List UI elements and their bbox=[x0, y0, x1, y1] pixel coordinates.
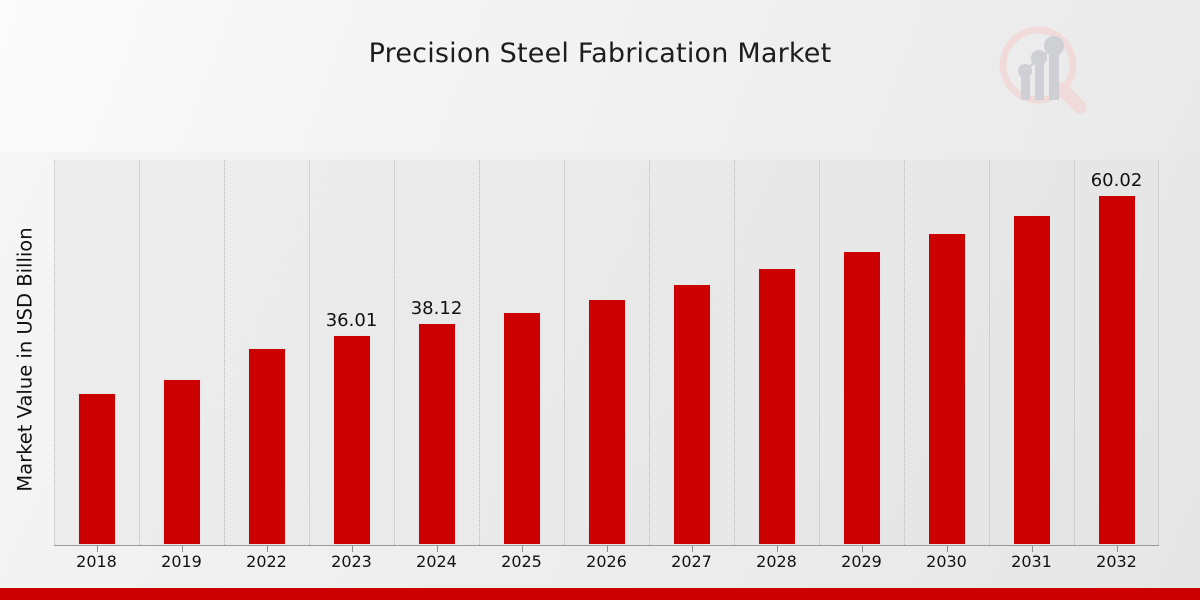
gridline bbox=[224, 160, 226, 545]
x-axis-label-2025: 2025 bbox=[477, 552, 567, 571]
bar-2022[interactable] bbox=[248, 348, 286, 545]
bar-2024[interactable] bbox=[418, 323, 456, 545]
gridline bbox=[54, 160, 56, 545]
x-axis-label-2030: 2030 bbox=[902, 552, 992, 571]
chart-header: Precision Steel Fabrication Market bbox=[0, 0, 1200, 152]
gridline bbox=[309, 160, 311, 545]
magnifier-bar-chart-logo-icon bbox=[992, 24, 1092, 116]
x-axis-label-2028: 2028 bbox=[732, 552, 822, 571]
bar-2025[interactable] bbox=[503, 312, 541, 545]
gridline bbox=[904, 160, 906, 545]
gridline bbox=[139, 160, 141, 545]
x-axis-label-2032: 2032 bbox=[1072, 552, 1162, 571]
x-axis-label-2029: 2029 bbox=[817, 552, 907, 571]
x-axis-label-2018: 2018 bbox=[52, 552, 142, 571]
gridline bbox=[564, 160, 566, 545]
chart-page: Precision Steel Fabrication Market Marke… bbox=[0, 0, 1200, 600]
bar-2028[interactable] bbox=[758, 268, 796, 545]
footer-accent-band bbox=[0, 588, 1200, 600]
bar-2029[interactable] bbox=[843, 251, 881, 545]
gridline bbox=[734, 160, 736, 545]
bar-2031[interactable] bbox=[1013, 215, 1051, 545]
bar-value-label-2023: 36.01 bbox=[307, 310, 397, 331]
bar-2030[interactable] bbox=[928, 233, 966, 545]
bar-2023[interactable] bbox=[333, 335, 371, 545]
x-axis-label-2031: 2031 bbox=[987, 552, 1077, 571]
gridline bbox=[1158, 160, 1160, 545]
bar-2032[interactable] bbox=[1098, 195, 1136, 545]
x-axis-label-2026: 2026 bbox=[562, 552, 652, 571]
bar-2027[interactable] bbox=[673, 284, 711, 545]
bar-2019[interactable] bbox=[163, 379, 201, 545]
x-axis-label-2022: 2022 bbox=[222, 552, 312, 571]
gridline bbox=[1074, 160, 1076, 545]
gridline bbox=[479, 160, 481, 545]
x-axis-label-2019: 2019 bbox=[137, 552, 227, 571]
y-axis-title: Market Value in USD Billion bbox=[14, 150, 37, 570]
x-axis-label-2024: 2024 bbox=[392, 552, 482, 571]
x-axis-label-2023: 2023 bbox=[307, 552, 397, 571]
bar-value-label-2024: 38.12 bbox=[392, 298, 482, 319]
gridline bbox=[394, 160, 396, 545]
gridline bbox=[649, 160, 651, 545]
bar-2026[interactable] bbox=[588, 299, 626, 545]
bar-value-label-2032: 60.02 bbox=[1072, 170, 1162, 191]
x-axis-label-2027: 2027 bbox=[647, 552, 737, 571]
gridline bbox=[989, 160, 991, 545]
gridline bbox=[819, 160, 821, 545]
bar-2018[interactable] bbox=[78, 393, 116, 545]
plot-area bbox=[54, 160, 1159, 545]
